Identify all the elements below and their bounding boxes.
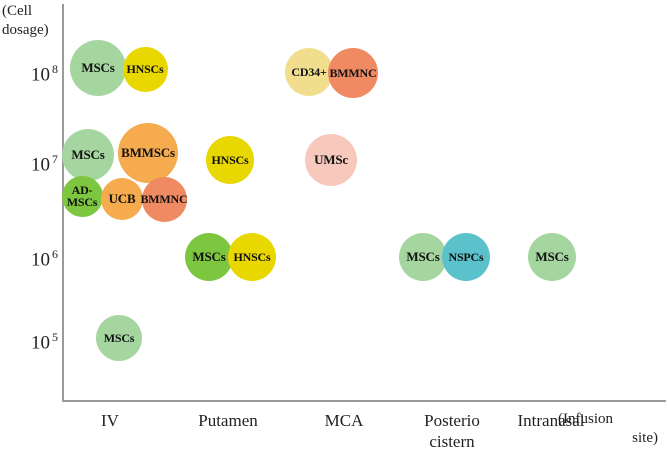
bubble-label: UCB bbox=[101, 192, 143, 205]
bubble-mscs-9[interactable]: MSCs bbox=[185, 233, 233, 281]
y-tick-label: 106 bbox=[2, 245, 58, 269]
bubble-label: MSCs bbox=[399, 250, 447, 263]
bubble-mscs-16[interactable]: MSCs bbox=[528, 233, 576, 281]
bubble-mscs-2[interactable]: MSCs bbox=[62, 129, 114, 181]
bubble-label: CD34+ bbox=[285, 66, 333, 78]
bubble-label: HNSCs bbox=[228, 251, 276, 263]
bubble-mscs-14[interactable]: MSCs bbox=[399, 233, 447, 281]
y-tick-label: 107 bbox=[2, 150, 58, 174]
bubble-bmmscs-3[interactable]: BMMSCs bbox=[118, 123, 178, 183]
bubble-mscs-0[interactable]: MSCs bbox=[70, 40, 126, 96]
y-axis-caption: (Cell dosage) bbox=[2, 2, 62, 40]
bubble-nspcs-15[interactable]: NSPCs bbox=[442, 233, 490, 281]
bubble-label: MSCs bbox=[62, 148, 114, 161]
y-tick-mantissa: 10 bbox=[31, 249, 50, 270]
y-tick-mantissa: 10 bbox=[31, 154, 50, 175]
bubble-label: HNSCs bbox=[123, 63, 168, 75]
bubble-label: UMSc bbox=[305, 153, 357, 166]
bubble-hnscs-8[interactable]: HNSCs bbox=[206, 136, 254, 184]
bubble-label: MSCs bbox=[528, 250, 576, 263]
bubble-hnscs-1[interactable]: HNSCs bbox=[123, 47, 168, 92]
y-tick-label: 105 bbox=[2, 328, 58, 352]
y-tick-exponent: 8 bbox=[50, 62, 58, 76]
y-tick-exponent: 6 bbox=[50, 247, 58, 261]
bubble-label: HNSCs bbox=[206, 154, 254, 166]
bubble-mscs-7[interactable]: MSCs bbox=[96, 315, 142, 361]
bubble-label: MSCs bbox=[185, 250, 233, 263]
bubble-bmmnc-6[interactable]: BMMNC bbox=[142, 177, 187, 222]
x-tick-label-line2: cistern bbox=[382, 431, 522, 452]
bubble-label: BMMSCs bbox=[118, 146, 178, 159]
x-tick-label-line1: (Infusion bbox=[558, 410, 658, 429]
cell-dosage-infusion-site-chart: (Cell dosage) 108107106105 IVPutamenMCAP… bbox=[0, 0, 667, 456]
x-tick-label-line2: site) bbox=[558, 429, 658, 448]
y-tick-mantissa: 10 bbox=[31, 64, 50, 85]
bubble-label: BMMNC bbox=[328, 67, 378, 79]
bubble-bmmnc-12[interactable]: BMMNC bbox=[328, 48, 378, 98]
bubble-label: NSPCs bbox=[442, 251, 490, 263]
y-axis-caption-line2: dosage) bbox=[2, 21, 62, 40]
bubble-label: BMMNC bbox=[141, 193, 188, 205]
bubble-hnscs-10[interactable]: HNSCs bbox=[228, 233, 276, 281]
y-axis-caption-line1: (Cell bbox=[2, 2, 62, 21]
bubble-umsc-13[interactable]: UMSc bbox=[305, 134, 357, 186]
y-tick-exponent: 7 bbox=[50, 152, 58, 166]
y-tick-exponent: 5 bbox=[50, 330, 58, 344]
bubble-cd34-plus-11[interactable]: CD34+ bbox=[285, 48, 333, 96]
y-tick-mantissa: 10 bbox=[31, 332, 50, 353]
bubble-label: AD- MSCs bbox=[62, 184, 103, 208]
bubble-ucb-5[interactable]: UCB bbox=[101, 178, 143, 220]
x-tick-infusion: (Infusionsite) bbox=[558, 410, 658, 448]
x-axis-line bbox=[62, 400, 666, 402]
bubble-ad-mscs-4[interactable]: AD- MSCs bbox=[62, 176, 103, 217]
y-tick-label: 108 bbox=[2, 60, 58, 84]
bubble-label: MSCs bbox=[70, 61, 126, 74]
bubble-label: MSCs bbox=[96, 332, 142, 344]
